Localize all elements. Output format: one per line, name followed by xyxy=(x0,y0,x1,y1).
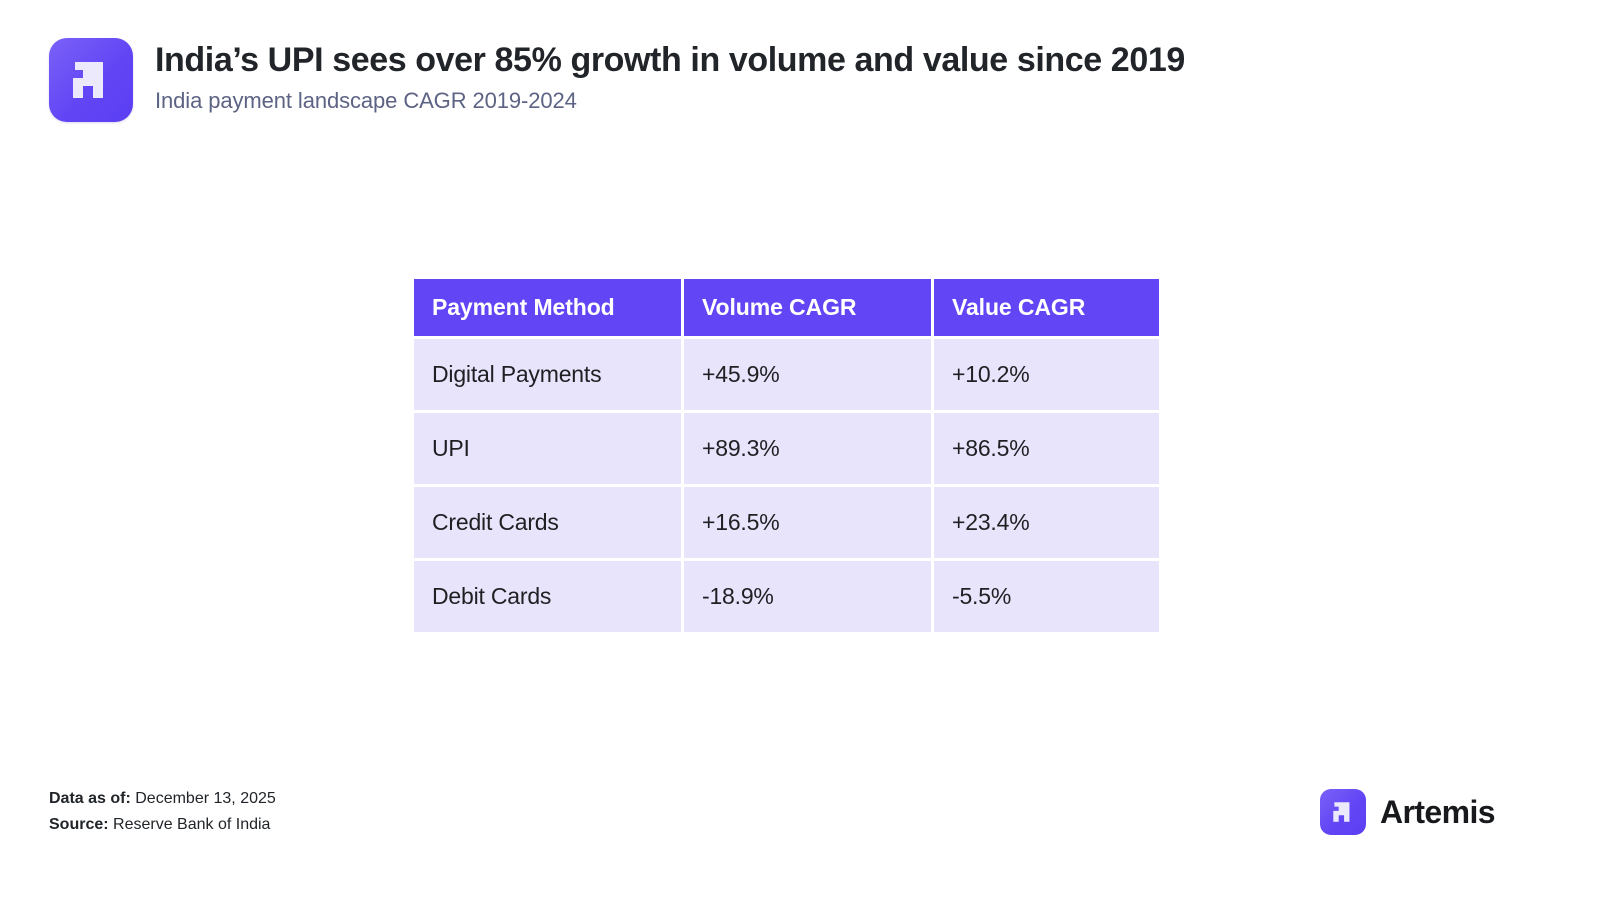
footer-brand: Artemis xyxy=(1320,789,1495,835)
cell-payment-method: Digital Payments xyxy=(414,339,681,410)
page-title: India’s UPI sees over 85% growth in volu… xyxy=(155,40,1185,80)
cell-payment-method: UPI xyxy=(414,413,681,484)
source-label: Source: xyxy=(49,816,109,833)
page-header: India’s UPI sees over 85% growth in volu… xyxy=(49,38,1185,122)
cell-payment-method: Debit Cards xyxy=(414,561,681,632)
cell-volume-cagr: +89.3% xyxy=(684,413,931,484)
column-header-value-cagr: Value CAGR xyxy=(934,279,1159,336)
cell-volume-cagr: -18.9% xyxy=(684,561,931,632)
cagr-table: Payment Method Volume CAGR Value CAGR Di… xyxy=(411,276,1162,635)
source-line: Source: Reserve Bank of India xyxy=(49,812,276,838)
data-as-of-line: Data as of: December 13, 2025 xyxy=(49,786,276,812)
table-row: Credit Cards +16.5% +23.4% xyxy=(414,487,1159,558)
table-row: UPI +89.3% +86.5% xyxy=(414,413,1159,484)
footnotes: Data as of: December 13, 2025 Source: Re… xyxy=(49,786,276,838)
table-row: Debit Cards -18.9% -5.5% xyxy=(414,561,1159,632)
header-text-block: India’s UPI sees over 85% growth in volu… xyxy=(155,38,1185,115)
column-header-volume-cagr: Volume CAGR xyxy=(684,279,931,336)
table-row: Digital Payments +45.9% +10.2% xyxy=(414,339,1159,410)
artemis-logo-icon xyxy=(1320,789,1366,835)
footer-brand-name: Artemis xyxy=(1380,794,1495,831)
table-header: Payment Method Volume CAGR Value CAGR xyxy=(414,279,1159,336)
cell-volume-cagr: +45.9% xyxy=(684,339,931,410)
table-body: Digital Payments +45.9% +10.2% UPI +89.3… xyxy=(414,339,1159,632)
artemis-logo-icon xyxy=(49,38,133,122)
page-subtitle: India payment landscape CAGR 2019-2024 xyxy=(155,88,1185,114)
cell-value-cagr: +10.2% xyxy=(934,339,1159,410)
cell-volume-cagr: +16.5% xyxy=(684,487,931,558)
data-as-of-value: December 13, 2025 xyxy=(135,790,276,807)
cell-value-cagr: +86.5% xyxy=(934,413,1159,484)
column-header-payment-method: Payment Method xyxy=(414,279,681,336)
cagr-table-container: Payment Method Volume CAGR Value CAGR Di… xyxy=(414,279,1155,632)
source-value: Reserve Bank of India xyxy=(113,816,270,833)
cell-value-cagr: +23.4% xyxy=(934,487,1159,558)
cell-value-cagr: -5.5% xyxy=(934,561,1159,632)
cell-payment-method: Credit Cards xyxy=(414,487,681,558)
table-header-row: Payment Method Volume CAGR Value CAGR xyxy=(414,279,1159,336)
data-as-of-label: Data as of: xyxy=(49,790,131,807)
